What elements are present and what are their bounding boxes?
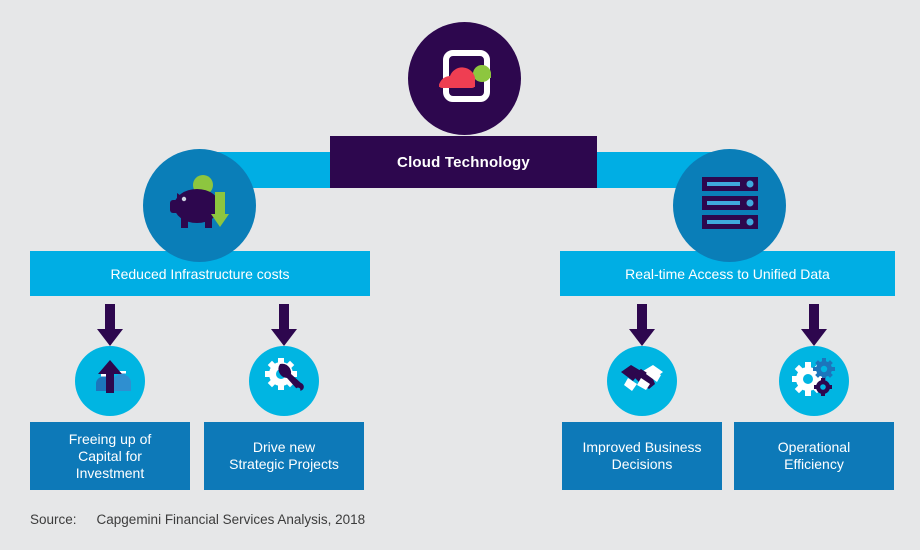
leaf-label: Operational Efficiency (778, 439, 850, 473)
leaf-icon-circle-drive-new-strategic-projects (249, 346, 319, 416)
arrow-down-operational-efficiency (801, 304, 827, 346)
handshake-icon (619, 359, 665, 404)
root-icon-circle (408, 22, 521, 135)
leaf-box-freeing-up-capital: Freeing up of Capital for Investment (30, 422, 190, 490)
arrow-down-improved-business-decisions (629, 304, 655, 346)
piggy-bank-down-arrow-icon (163, 166, 237, 245)
branch-banner-label: Real-time Access to Unified Data (625, 266, 830, 282)
arrow-down-drive-new-strategic-projects (271, 304, 297, 346)
leaf-box-improved-business-decisions: Improved Business Decisions (562, 422, 722, 490)
money-bags-up-arrow-icon (88, 357, 132, 406)
leaf-icon-circle-freeing-up-capital (75, 346, 145, 416)
gear-wrench-icon (262, 357, 306, 406)
branch-icon-circle-real-time-access-unified-data (673, 149, 786, 262)
leaf-box-operational-efficiency: Operational Efficiency (734, 422, 894, 490)
leaf-label: Freeing up of Capital for Investment (69, 431, 152, 482)
branch-icon-circle-reduced-infrastructure-costs (143, 149, 256, 262)
gears-icon (791, 357, 837, 406)
leaf-label: Drive new Strategic Projects (229, 439, 339, 473)
root-title-label: Cloud Technology (397, 154, 530, 171)
root-title-block: Cloud Technology (330, 136, 597, 188)
leaf-box-drive-new-strategic-projects: Drive new Strategic Projects (204, 422, 364, 490)
leaf-icon-circle-operational-efficiency (779, 346, 849, 416)
branch-banner-label: Reduced Infrastructure costs (111, 266, 290, 282)
leaf-icon-circle-improved-business-decisions (607, 346, 677, 416)
server-stack-icon (698, 171, 762, 240)
source-footer: Source: Capgemini Financial Services Ana… (30, 512, 365, 527)
leaf-label: Improved Business Decisions (582, 439, 701, 473)
source-label: Source: (30, 512, 77, 527)
arrow-down-freeing-up-capital (97, 304, 123, 346)
diagram-canvas: Cloud Technology Reduced Infrastructure … (0, 0, 920, 550)
cloud-platform-icon (429, 40, 501, 117)
source-text: Capgemini Financial Services Analysis, 2… (97, 512, 366, 527)
